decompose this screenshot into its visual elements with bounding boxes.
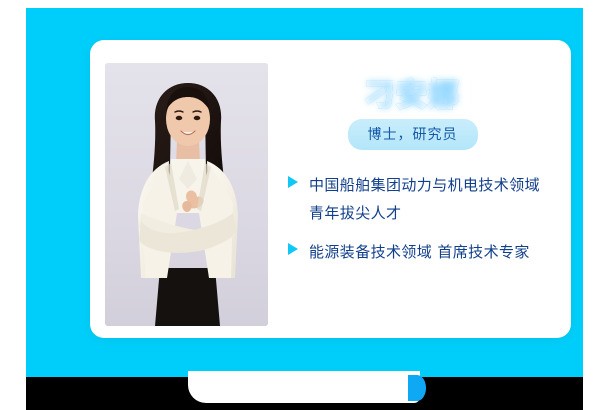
- title-badge: 博士，研究员: [348, 119, 478, 150]
- credential-line: 能源装备技术领域 首席技术专家: [309, 238, 530, 266]
- triangle-bullet-icon: [288, 243, 298, 255]
- badge-row: 博士，研究员: [286, 119, 557, 150]
- list-item: 中国船舶集团动力与机电技术领域 青年拔尖人才: [288, 171, 557, 227]
- name-row: 刁安娜: [286, 68, 557, 116]
- credential-text: 能源装备技术领域 首席技术专家: [309, 238, 530, 266]
- triangle-bullet-icon: [288, 176, 298, 188]
- page-canvas: 刁安娜 博士，研究员 中国船舶集团动力与机电技术领域 青年拔尖人才: [0, 0, 607, 410]
- credential-line: 青年拔尖人才: [309, 199, 540, 227]
- profile-content: 刁安娜 博士，研究员 中国船舶集团动力与机电技术领域 青年拔尖人才: [286, 68, 557, 324]
- profile-card: 刁安娜 博士，研究员 中国船舶集团动力与机电技术领域 青年拔尖人才: [90, 40, 571, 338]
- hero-band: 刁安娜 博士，研究员 中国船舶集团动力与机电技术领域 青年拔尖人才: [26, 8, 583, 377]
- portrait-photo: [105, 63, 268, 326]
- list-item: 能源装备技术领域 首席技术专家: [288, 238, 557, 266]
- credential-line: 中国船舶集团动力与机电技术领域: [309, 171, 540, 199]
- bottom-panel-round-cap: [408, 375, 426, 401]
- credential-text: 中国船舶集团动力与机电技术领域 青年拔尖人才: [309, 171, 540, 227]
- person-name: 刁安娜: [365, 70, 461, 114]
- credentials-list: 中国船舶集团动力与机电技术领域 青年拔尖人才 能源装备技术领域 首席技术专家: [286, 171, 557, 266]
- bottom-partial-panel: [188, 371, 420, 403]
